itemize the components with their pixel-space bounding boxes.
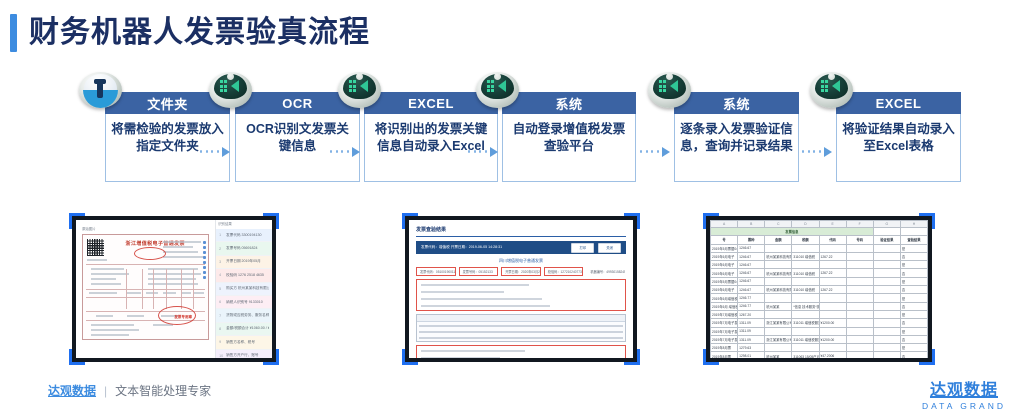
table-cell[interactable] [819, 294, 846, 302]
ocr-image-pane: 原始图片 浙江增值税电子普通发票 [76, 220, 215, 358]
table-cell[interactable] [846, 335, 873, 343]
logo-en: DATA GRAND [922, 401, 1006, 411]
table-row[interactable]: 2019年6月电子1246.67是 [711, 261, 928, 269]
table-cell[interactable] [765, 277, 792, 285]
table-cell[interactable]: 1311.09 [738, 335, 765, 343]
table-cell[interactable]: 杭州某某 [765, 352, 792, 358]
invoice-image: 浙江增值税电子普通发票 [82, 234, 209, 340]
table-cell[interactable] [846, 344, 873, 352]
flow-arrow-4 [640, 147, 670, 156]
table-cell[interactable] [846, 261, 873, 269]
table-row[interactable]: 2019年6月电子1246.67杭州某某科技有限公司311010 增值税1267… [711, 269, 928, 277]
table-cell[interactable] [873, 344, 900, 352]
table-cell[interactable] [846, 244, 873, 252]
field-invoice-code: 发票代码：051001900111 [416, 267, 456, 276]
ocr-result-caption: 识别结果 [218, 221, 272, 226]
table-cell[interactable]: 2019年5月票据04 [711, 277, 738, 285]
table-cell[interactable] [819, 302, 846, 310]
excel-table[interactable]: A B C D E F G H 发票信息 号 [710, 220, 928, 358]
verification-infobar: 发票代码：增值税 开票日期：2019-06-05 14:28:31 打印 关闭 [416, 241, 626, 254]
title-accent-bar [10, 14, 17, 52]
ocr-image-caption: 原始图片 [82, 226, 211, 231]
table-cell[interactable] [873, 327, 900, 335]
table-cell[interactable]: 杭州某某科技有限公司 [765, 269, 792, 277]
table-cell[interactable]: 2019年6月电子 [711, 252, 738, 260]
list-item[interactable]: 8金额/税额合计 ¥1060.00 / ¥60.00 [216, 323, 272, 336]
table-cell[interactable] [792, 244, 819, 252]
table-cell[interactable]: 是 [900, 294, 927, 302]
table-cell[interactable]: 1246.77 [738, 294, 765, 302]
table-row[interactable]: 2019年6月增值税1246.77是 [711, 294, 928, 302]
table-cell[interactable]: ¥1200.00 [819, 335, 846, 343]
list-item[interactable]: 3开票日期 2019年05月 [216, 256, 272, 269]
table-cell[interactable]: 2019年6月 增值税 [711, 302, 738, 310]
col-letter[interactable]: A [711, 221, 738, 228]
list-item[interactable]: 7货物或应税劳务、服务名称 *信息技术服务*技术服务费 [216, 309, 272, 322]
header-cell: 票种 [738, 236, 765, 244]
list-item[interactable]: 6纳税人识别号 9133010 [216, 296, 272, 309]
infobar-text: 发票代码：增值税 开票日期：2019-06-05 14:28:31 [421, 245, 502, 250]
list-item[interactable]: 9销售方名称、税号 [216, 336, 272, 349]
table-cell[interactable] [873, 310, 900, 318]
col-letter[interactable]: E [819, 221, 846, 228]
flow-step-5-body: 逐条录入发票验证信息，查询并记录结果 [674, 114, 799, 182]
header-cell: 金额 [765, 236, 792, 244]
table-cell[interactable]: 1267.22 [819, 269, 846, 277]
list-item[interactable]: 4校验码 1276 2518 4635 [216, 269, 272, 282]
table-cell[interactable] [792, 294, 819, 302]
flow-arrow-5 [802, 147, 832, 156]
person-folder-icon [77, 68, 124, 110]
footer-left: 达观数据 | 文本智能处理专家 [48, 382, 211, 399]
table-cell[interactable] [846, 252, 873, 260]
table-row[interactable]: 2019年6月电子1246.67杭州某某科技有限公司311010 增值税1267… [711, 286, 928, 294]
table-cell[interactable]: 2019年7月电子发票 [711, 327, 738, 335]
table-cell[interactable] [765, 310, 792, 318]
table-cell[interactable]: 是 [900, 344, 927, 352]
ocr-result-pane[interactable]: 识别结果 1发票代码 3300194130 2发票号码 05691824 3开票… [215, 220, 272, 358]
table-cell[interactable] [819, 277, 846, 285]
footer-separator: | [104, 384, 107, 398]
table-cell[interactable]: 是 [900, 327, 927, 335]
field-machine-number: 机器编号：499301582456 [586, 267, 626, 276]
flow-step-6[interactable]: EXCEL 将验证结果自动录入至Excel表格 [836, 92, 961, 182]
table-cell[interactable] [846, 310, 873, 318]
table-cell[interactable]: 否 [900, 302, 927, 310]
list-item[interactable]: 5购买方 杭州某某科技有限公司 [216, 283, 272, 296]
robot-icon [207, 68, 254, 110]
table-cell[interactable] [873, 335, 900, 343]
table-cell[interactable]: 1246.67 [738, 252, 765, 260]
table-cell[interactable]: 1246.67 [738, 261, 765, 269]
flow-arrow-3 [468, 147, 498, 156]
table-cell[interactable]: 311011 增值税服务 [792, 319, 819, 327]
list-item[interactable]: 1发票代码 3300194130 [216, 229, 272, 242]
table-cell[interactable]: 杭州某某科技有限公司 [765, 252, 792, 260]
table-row[interactable]: 2019年7月电子发票1311.09浙江某某有限公司311011 增值税服务¥1… [711, 319, 928, 327]
flow-arrow-1 [200, 147, 230, 156]
table-cell[interactable]: 否 [900, 319, 927, 327]
table-cell[interactable]: ¥1200.00 [819, 319, 846, 327]
table-cell[interactable]: 1311.09 [738, 327, 765, 335]
stamp-label: 发票专用章 [174, 315, 192, 320]
table-cell[interactable]: 311010 增值税 [792, 286, 819, 294]
table-cell[interactable] [873, 352, 900, 358]
page-title: 财务机器人发票验真流程 [10, 14, 370, 52]
footer-brand[interactable]: 达观数据 [48, 382, 96, 399]
table-cell[interactable]: 1267.20 [738, 310, 765, 318]
table-row[interactable]: 2019年7月增值税 杭州某某1267.20是 [711, 310, 928, 318]
slide-root: 财务机器人发票验真流程 文件夹 将需检验的发票放入指定文件夹 OCR OCR识别… [0, 0, 1024, 418]
ocr-result-list[interactable]: 1发票代码 3300194130 2发票号码 05691824 3开票日期 20… [216, 229, 272, 358]
qr-code-icon [87, 239, 104, 256]
table-cell[interactable] [765, 294, 792, 302]
table-cell[interactable] [819, 261, 846, 269]
invoice-items-table [416, 314, 626, 342]
table-cell[interactable]: 否 [900, 252, 927, 260]
table-cell[interactable]: 1246.67 [738, 244, 765, 252]
table-cell[interactable] [873, 269, 900, 277]
table-cell[interactable] [873, 286, 900, 294]
table-row[interactable]: 2019年5月票据041246.67是 [711, 244, 928, 252]
table-cell[interactable] [819, 344, 846, 352]
flow-step-4-head: 系统 [502, 92, 636, 114]
table-cell[interactable] [846, 327, 873, 335]
table-cell[interactable] [873, 302, 900, 310]
header-cell: 验证结果 [873, 236, 900, 244]
table-cell[interactable]: 否 [900, 335, 927, 343]
table-cell[interactable]: 杭州某某科技有限公司 [765, 286, 792, 294]
table-cell[interactable] [765, 327, 792, 335]
table-cell[interactable] [846, 277, 873, 285]
excel-grid[interactable]: A B C D E F G H 发票信息 号 [710, 220, 928, 358]
table-cell[interactable] [792, 310, 819, 318]
table-cell[interactable] [873, 319, 900, 327]
table-cell[interactable]: 1246.67 [738, 277, 765, 285]
table-cell[interactable]: 1311.09 [738, 319, 765, 327]
screenshot-panel-verification[interactable]: 发票查验结果 发票代码：增值税 开票日期：2019-06-05 14:28:31… [405, 216, 637, 362]
table-cell[interactable]: 否 [900, 269, 927, 277]
robot-icon [808, 68, 855, 110]
table-cell[interactable]: 311063 15/05户可用 [792, 352, 819, 358]
excel-header-row: 号 票种 金额 税额 代码 号码 验证结果 查验结果 [711, 236, 928, 244]
table-cell[interactable] [873, 244, 900, 252]
flow-arrow-2 [330, 147, 360, 156]
table-cell[interactable] [819, 310, 846, 318]
table-cell[interactable]: 1279.63 [738, 344, 765, 352]
table-row[interactable]: 2019年6月电子1246.67杭州某某科技有限公司311010 增值税1267… [711, 252, 928, 260]
table-cell[interactable]: 浙江某某有限公司 [765, 319, 792, 327]
table-cell[interactable]: 是 [900, 310, 927, 318]
table-cell[interactable]: 311010 增值税 [792, 269, 819, 277]
table-cell[interactable] [765, 344, 792, 352]
table-cell[interactable]: 是 [900, 261, 927, 269]
brand-logo: 达观数据 DATA GRAND [922, 376, 1006, 411]
field-invoice-number: 发票号码：05152133 [459, 267, 499, 276]
field-check-code: 校验码：12721024077359624358623 [544, 267, 584, 276]
invoice-subtitle: 四川增值税电子普通发票 [416, 258, 626, 264]
table-cell[interactable] [846, 319, 873, 327]
table-row[interactable]: 2019年8月票1279.63是 [711, 344, 928, 352]
table-cell[interactable] [792, 277, 819, 285]
robot-icon [646, 68, 693, 110]
table-cell[interactable]: 1298.01 [738, 352, 765, 358]
field-invoice-date: 开票日期：2020年03月26日 [501, 267, 541, 276]
table-cell[interactable]: 1267.22 [819, 286, 846, 294]
table-cell[interactable] [873, 277, 900, 285]
table-cell[interactable] [873, 261, 900, 269]
divider [416, 236, 626, 237]
table-cell[interactable] [873, 252, 900, 260]
table-cell[interactable] [819, 244, 846, 252]
list-item[interactable]: 2发票号码 05691824 [216, 242, 272, 255]
table-cell[interactable] [792, 344, 819, 352]
table-cell[interactable]: 2019年8月票 [711, 344, 738, 352]
col-letter[interactable]: B [738, 221, 765, 228]
table-cell[interactable] [792, 327, 819, 335]
table-cell[interactable]: 2019年6月电子 [711, 261, 738, 269]
table-cell[interactable] [765, 261, 792, 269]
table-cell[interactable]: 2019年5月票据04 [711, 244, 738, 252]
table-cell[interactable]: *信息 技术服务*技术费 [792, 302, 819, 310]
table-cell[interactable] [846, 302, 873, 310]
screenshot-panel-excel[interactable]: A B C D E F G H 发票信息 号 [706, 216, 932, 362]
col-letter[interactable]: H [900, 221, 927, 228]
table-cell[interactable]: 2019年6月电子 [711, 286, 738, 294]
table-cell[interactable] [846, 286, 873, 294]
table-cell[interactable]: 浙江某某有限公司 [765, 335, 792, 343]
table-cell[interactable]: 2019年7月增值税 杭州某某 [711, 310, 738, 318]
flow-step-4-body: 自动登录增值税发票查验平台 [502, 114, 636, 182]
excel-group-header-row: 发票信息 [711, 228, 928, 236]
table-cell[interactable]: 2019年6月电子 [711, 269, 738, 277]
process-flow: 文件夹 将需检验的发票放入指定文件夹 OCR OCR识别文发票关键信息 EXCE… [0, 62, 1024, 194]
table-cell[interactable]: ¥47.2006 [819, 352, 846, 358]
col-letter[interactable]: C [765, 221, 792, 228]
title-text: 财务机器人发票验真流程 [29, 14, 370, 52]
group-header-cell: 发票信息 [711, 228, 874, 236]
table-cell[interactable] [873, 294, 900, 302]
table-row[interactable]: 2019年7月电子发票1311.09浙江某某有限公司311011 增值税服务¥1… [711, 335, 928, 343]
excel-column-letters: A B C D E F G H [711, 221, 928, 228]
table-cell[interactable] [846, 352, 873, 358]
table-cell[interactable]: 311010 增值税 [792, 252, 819, 260]
table-cell[interactable]: 否 [900, 286, 927, 294]
screenshot-panel-ocr[interactable]: 原始图片 浙江增值税电子普通发票 [72, 216, 276, 362]
table-cell[interactable]: 是 [900, 277, 927, 285]
table-row[interactable]: 2019年8月票1298.01杭州某某311063 15/05户可用¥47.20… [711, 352, 928, 358]
header-cell: 查验结果 [900, 236, 927, 244]
table-cell[interactable] [792, 261, 819, 269]
col-letter[interactable]: D [792, 221, 819, 228]
robot-icon [336, 68, 383, 110]
header-cell: 代码 [819, 236, 846, 244]
col-letter[interactable]: G [873, 221, 900, 228]
table-cell[interactable] [819, 327, 846, 335]
invoice-field-row: 发票代码：051001900111 发票号码：05152133 开票日期：202… [416, 267, 626, 276]
table-cell[interactable]: 否 [900, 352, 927, 358]
robot-icon [474, 68, 521, 110]
header-cell: 号码 [846, 236, 873, 244]
table-cell[interactable]: 杭州某某 [765, 302, 792, 310]
table-row[interactable]: 2019年5月票据041246.67是 [711, 277, 928, 285]
table-cell[interactable] [765, 244, 792, 252]
close-button[interactable]: 关闭 [598, 243, 621, 253]
table-cell[interactable]: 1246.77 [738, 302, 765, 310]
anchor-dots [203, 241, 206, 281]
table-cell[interactable] [846, 294, 873, 302]
header-cell: 号 [711, 236, 738, 244]
table-cell[interactable]: 是 [900, 244, 927, 252]
flow-step-5[interactable]: 系统 逐条录入发票验证信息，查询并记录结果 [674, 92, 799, 182]
verification-header: 发票查验结果 [416, 226, 626, 233]
footer-tagline: 文本智能处理专家 [115, 382, 211, 399]
table-cell[interactable]: 1246.67 [738, 286, 765, 294]
excel-body[interactable]: 2019年5月票据041246.67是2019年6月电子1246.67杭州某某科… [711, 244, 928, 358]
table-cell[interactable]: 1246.67 [738, 269, 765, 277]
buyer-info-box [416, 279, 626, 311]
col-letter[interactable]: F [846, 221, 873, 228]
table-cell[interactable]: 311011 增值税服务 [792, 335, 819, 343]
table-cell[interactable]: 1267.22 [819, 252, 846, 260]
table-cell[interactable]: 2019年6月增值税 [711, 294, 738, 302]
table-cell[interactable]: 2019年7月电子发票 [711, 335, 738, 343]
table-cell[interactable]: 2019年7月电子发票 [711, 319, 738, 327]
table-cell[interactable] [846, 269, 873, 277]
list-item[interactable]: 10销售方开户行、账号 [216, 350, 272, 358]
table-cell[interactable]: 2019年8月票 [711, 352, 738, 358]
table-row[interactable]: 2019年7月电子发票1311.09是 [711, 327, 928, 335]
print-button[interactable]: 打印 [571, 243, 594, 253]
table-row[interactable]: 2019年6月 增值税1246.77杭州某某*信息 技术服务*技术费否 [711, 302, 928, 310]
invoice-stamp [134, 247, 166, 260]
logo-cn: 达观数据 [922, 376, 1006, 400]
header-cell: 税额 [792, 236, 819, 244]
flow-step-4[interactable]: 系统 自动登录增值税发票查验平台 [502, 92, 636, 182]
flow-step-6-body: 将验证结果自动录入至Excel表格 [836, 114, 961, 182]
seller-info-box [416, 345, 626, 358]
